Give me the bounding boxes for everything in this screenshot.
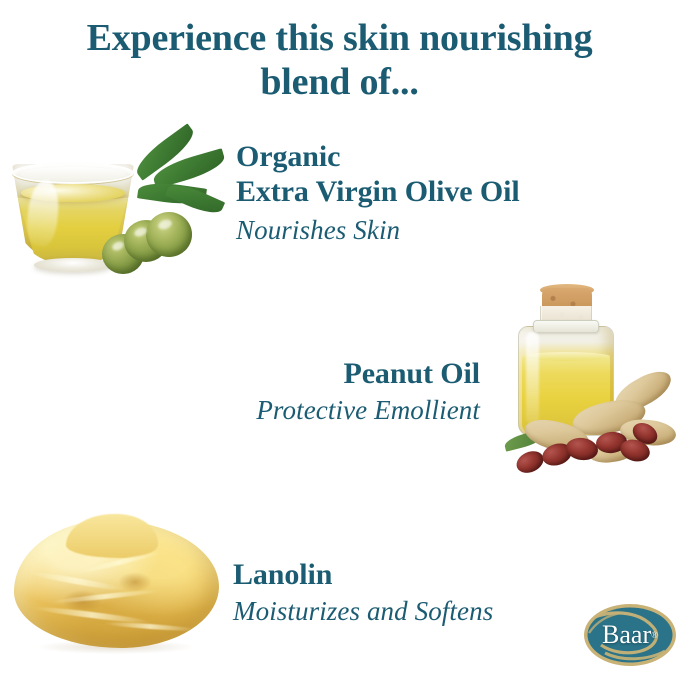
ingredient-benefit-lanolin: Moisturizes and Softens [233, 595, 493, 627]
olive-oil-bowl-with-olives-image [6, 138, 221, 283]
ingredient-name-olive-oil: Organic Extra Virgin Olive Oil [236, 139, 520, 209]
page-title: Experience this skin nourishing blend of… [0, 16, 679, 105]
page-title-line-1: Experience this skin nourishing [18, 16, 661, 60]
ingredient-benefit-peanut-oil: Protective Emollient [150, 394, 480, 426]
ingredient-benefit-olive-oil: Nourishes Skin [236, 214, 520, 246]
infographic-canvas: Experience this skin nourishing blend of… [0, 0, 679, 679]
bowl-inner-rim [20, 167, 126, 181]
registered-trademark-icon: ® [651, 631, 658, 640]
bottle-highlight [526, 332, 539, 424]
ingredient-name-peanut-oil: Peanut Oil [150, 356, 480, 391]
ingredient-text-peanut-oil: Peanut Oil Protective Emollient [150, 356, 480, 426]
baar-logo-name: Baar [602, 622, 651, 648]
peanut-kernel [513, 447, 547, 477]
baar-logo: Baar® [583, 603, 677, 667]
peanut-oil-bottle-with-peanuts-image [500, 282, 679, 480]
page-title-line-2: blend of... [18, 60, 661, 104]
lanolin-wax-blob-image [14, 520, 219, 665]
lanolin-peak [66, 514, 158, 558]
ingredient-text-olive-oil: Organic Extra Virgin Olive Oil Nourishes… [236, 139, 520, 247]
bottle-lip [533, 320, 599, 333]
bowl-base [34, 258, 112, 272]
ingredient-text-lanolin: Lanolin Moisturizes and Softens [233, 557, 493, 627]
ingredient-name-lanolin: Lanolin [233, 557, 493, 592]
baar-logo-wordmark: Baar® [583, 603, 677, 667]
